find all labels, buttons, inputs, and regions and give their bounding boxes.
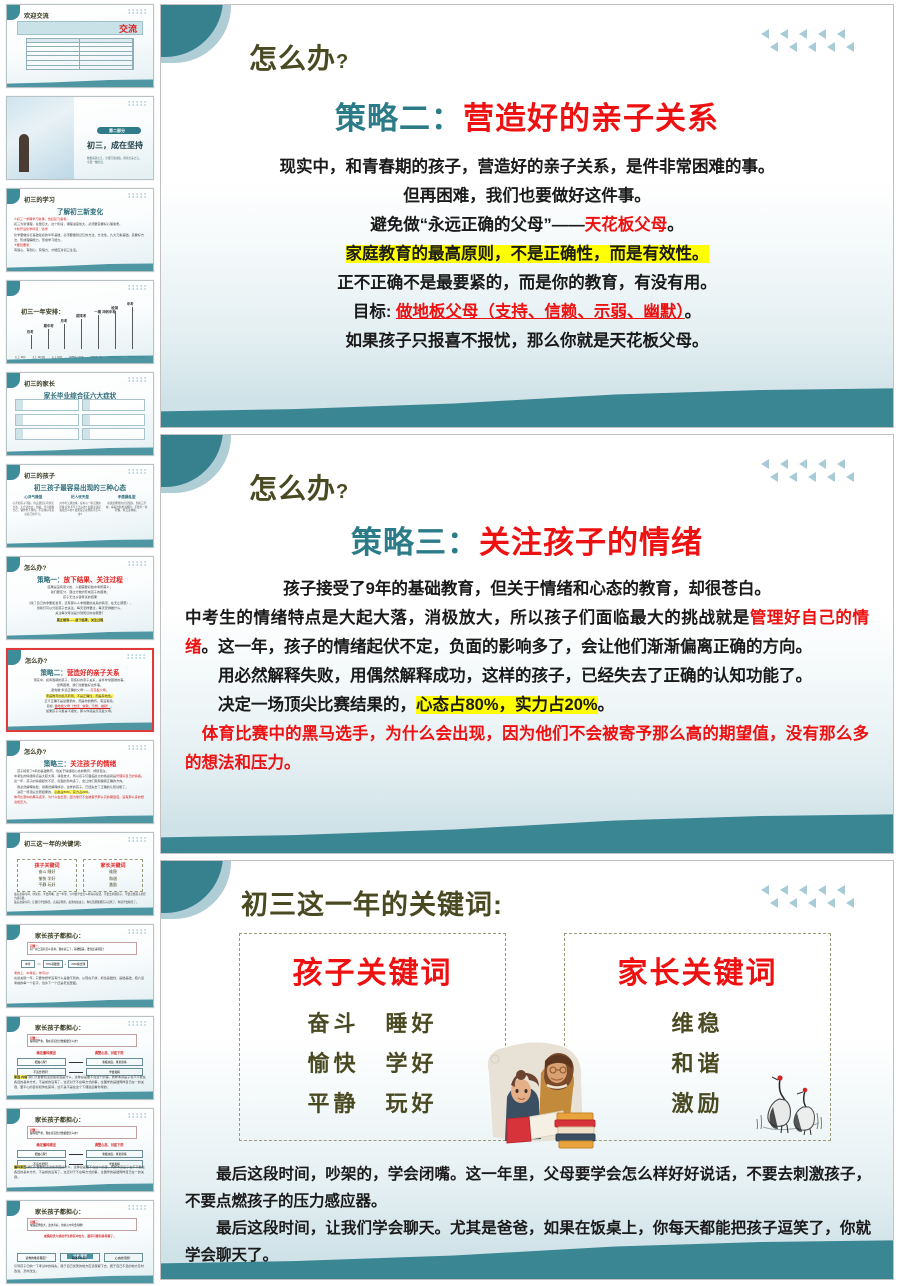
triangle-deco-icon bbox=[761, 885, 857, 919]
formula-row: 中考 ⟹ 70%基础题 + 20%综合题 bbox=[21, 960, 143, 968]
thumbnail-slide-9[interactable]: ◄◄◄◄◄◄◄◄◄◄ 怎么办? 策略三：关注孩子的情绪 孩子接受了9年的基础教育… bbox=[6, 740, 154, 824]
highlight-note: 成绩起伏大或用学生原有冲击力，最有可能但是考砸了。 bbox=[19, 1234, 141, 1238]
thumb-body: 考的上、中考后，你可以! 在最关键一年，只要你想学没有什么是做不到的，从现在不放… bbox=[14, 971, 146, 987]
thumb-body: ①初三一学期学习新课，然后复习备考。 初三为新课程，总量巨大，这个阶段，课程进度… bbox=[14, 217, 146, 253]
wave-deco bbox=[7, 262, 153, 271]
wave-deco bbox=[8, 721, 152, 730]
corner-arc-icon bbox=[7, 188, 20, 204]
triangle-deco-icon: ◄◄◄◄◄◄◄◄◄◄ bbox=[127, 193, 147, 199]
keyword-box-child: 孩子关键词 奋斗 睡好 愉快 学好 平静 玩好 bbox=[239, 933, 506, 1141]
question-box: 问题二：偏科很严重，现在应该给分数偏要怎么办？ bbox=[27, 1126, 137, 1139]
timeline-chart: 月考 期中考 月考 期末考 一模 冲刺中考 检测 中考 bbox=[15, 309, 145, 349]
thumb-body: 孩子接受了9年的基础教育，但关于情绪和心态的教育，却很苍白。 中考生的情绪特点是… bbox=[14, 769, 146, 805]
wave-deco bbox=[7, 78, 153, 87]
thumb-body: 现实中，和青春期的孩子，营造好的亲子关系，是件非常困难的事。 但再困难，我们也要… bbox=[15, 678, 145, 714]
thumb-title: 怎么办? bbox=[25, 656, 47, 665]
cover-note: 数据来源之五，全级百佳成绩，期待出来之五，全面一致提出。 bbox=[87, 157, 143, 165]
thumb-subtitle: 策略二：营造好的亲子关系 bbox=[8, 667, 152, 677]
wave-deco bbox=[7, 538, 153, 547]
triangle-deco-icon: ◄◄◄◄◄◄◄◄◄◄ bbox=[127, 1205, 147, 1211]
slide-body: 现实中，和青春期的孩子，营造好的亲子关系，是件非常困难的事。 但再困难，我们也要… bbox=[185, 153, 869, 356]
thumbnail-slide-14[interactable]: ◄◄◄◄◄◄◄◄◄◄ 家长孩子都担心： 问题三：成绩起伏很大，这次考好，但担心中… bbox=[6, 1200, 154, 1284]
wave-deco bbox=[7, 446, 153, 455]
wave-deco bbox=[7, 906, 153, 915]
triangle-deco-icon: ◄◄◄◄◄◄◄◄◄◄ bbox=[127, 377, 147, 383]
thumbnail-slide-11[interactable]: ◄◄◄◄◄◄◄◄◄◄ 家长孩子都担心： 问题一：初一初二没有怎么读书，现在初三了… bbox=[6, 924, 154, 1008]
keyword-boxes: 孩子关键词 奋斗 睡好 愉快 学好 平静 玩好 家长关键词 维稳 和谐 激励 bbox=[17, 859, 143, 892]
thumb-table bbox=[26, 38, 134, 70]
corner-arc-icon bbox=[7, 464, 20, 480]
corner-arc-icon bbox=[7, 1108, 20, 1124]
wave-deco-bar bbox=[161, 417, 893, 427]
corner-arc-icon bbox=[7, 924, 20, 940]
crane-ink-painting-icon bbox=[753, 1073, 825, 1135]
keyword-box-parent-title: 家长关键词 bbox=[565, 948, 830, 992]
thumb-title: 家长孩子都担心： bbox=[35, 1023, 85, 1032]
triangle-deco-icon: ◄◄◄◄◄◄◄◄◄◄ bbox=[127, 469, 147, 475]
slide-body: 孩子接受了9年的基础教育，但关于情绪和心态的教育，却很苍白。 中考生的情绪特点是… bbox=[185, 575, 869, 778]
slide-thumbnail-sidebar[interactable]: ◄◄◄◄◄◄◄◄◄◄ 欢迎交流 交流 ◄◄◄◄◄◄◄◄◄◄ 第二部分 bbox=[0, 0, 160, 1286]
symptom-cards bbox=[15, 399, 145, 443]
triangle-deco-icon: ◄◄◄◄◄◄◄◄◄◄ bbox=[127, 1113, 147, 1119]
triangle-deco-icon: ◄◄◄◄◄◄◄◄◄◄ bbox=[127, 929, 147, 935]
thumb-body: 偏科原因 我们不要要知道这些原因是什么，这种总是要不在这个的事，同样本身是子在不… bbox=[14, 1165, 146, 1181]
cover-subtitle: 初三，成在坚持 bbox=[87, 140, 143, 151]
thumb-title: 家长孩子都担心： bbox=[35, 1115, 85, 1124]
triangle-deco-icon: ◄◄◄◄◄◄◄◄◄◄ bbox=[127, 837, 147, 843]
corner-arc-icon bbox=[7, 740, 20, 756]
triangle-deco-icon: ◄◄◄◄◄◄◄◄◄◄ bbox=[127, 101, 147, 107]
corner-arc-icon bbox=[8, 648, 21, 665]
keyword-word: 平静 玩好 bbox=[240, 1084, 505, 1124]
thumb-subtitle: 策略一：放下结果、关注过程 bbox=[7, 574, 153, 584]
thumb-body: 引导孩子归纳一下考试中的得失，属于自己优势的地方应该保留下去，属于自己不足的地方… bbox=[14, 1264, 146, 1274]
thumb-subtitle: 策略三：关注孩子的情绪 bbox=[7, 758, 153, 768]
slide-pane[interactable]: 怎么办? 策略二：营造好的亲子关系 现实中，和青春期的孩子，营造好的亲子关系，是… bbox=[160, 0, 900, 1286]
wave-deco bbox=[7, 1182, 153, 1191]
thumb-title: 家长孩子都担心： bbox=[35, 931, 85, 940]
page-title: 初三这一年的关键词: bbox=[241, 883, 503, 922]
thumb-title: 怎么办? bbox=[24, 747, 46, 756]
thumb-title: 初三的学习 bbox=[24, 195, 55, 204]
triangle-deco-icon: ◄◄◄◄◄◄◄◄◄◄ bbox=[127, 745, 147, 751]
thumbnail-slide-13[interactable]: ◄◄◄◄◄◄◄◄◄◄ 家长孩子都担心： 问题二：偏科很严重，现在应该给分数偏要怎… bbox=[6, 1108, 154, 1192]
corner-arc-icon bbox=[7, 832, 20, 848]
thumb-title: 初三的家长 bbox=[24, 379, 55, 388]
triangle-deco-icon: ◄◄◄◄◄◄◄◄◄◄ bbox=[127, 9, 147, 15]
keyword-word: 奋斗 睡好 bbox=[240, 1004, 505, 1044]
person-silhouette-icon bbox=[19, 134, 29, 172]
thumb-big-text: 交流 bbox=[119, 22, 137, 35]
thumbnail-slide-3[interactable]: ◄◄◄◄◄◄◄◄◄◄ 初三的学习 了解初三新变化 ①初三一学期学习新课，然后复习… bbox=[6, 188, 154, 272]
mindset-columns: 心浮气躁型心浮的孩子浮躁，但又都觉心有例无方法，无方法也太，但路，学习很难分心，… bbox=[12, 495, 148, 516]
question-box: 问题三：成绩起伏很大，这次考好，但担心中考会考糟？ bbox=[27, 1218, 137, 1231]
part-label: 第二部分 bbox=[95, 128, 139, 134]
main-slide-strategy-3[interactable]: 怎么办? 策略三：关注孩子的情绪 孩子接受了9年的基础教育，但关于情绪和心态的教… bbox=[160, 434, 894, 854]
thumbnail-slide-8[interactable]: ◄◄◄◄◄◄◄◄◄◄ 怎么办? 策略二：营造好的亲子关系 现实中，和青春期的孩子… bbox=[6, 648, 154, 732]
triangle-deco-icon bbox=[761, 29, 857, 63]
triangle-deco-icon bbox=[761, 459, 857, 493]
triangle-deco-icon: ◄◄◄◄◄◄◄◄◄◄ bbox=[127, 285, 147, 291]
thumbnail-slide-5[interactable]: ◄◄◄◄◄◄◄◄◄◄ 初三的家长 家长毕业综合征六大症状 bbox=[6, 372, 154, 456]
triangle-deco-icon: ◄◄◄◄◄◄◄◄◄◄ bbox=[127, 1021, 147, 1027]
thumbnail-slide-12[interactable]: ◄◄◄◄◄◄◄◄◄◄ 家长孩子都担心： 问题二：偏科很严重，现在应该给分数偏要怎… bbox=[6, 1016, 154, 1100]
thumb-title: 初三这一年的关键词: bbox=[24, 839, 82, 848]
main-slide-keywords[interactable]: 初三这一年的关键词: 孩子关键词 奋斗 睡好 愉快 学好 平静 玩好 家长关键词… bbox=[160, 860, 894, 1280]
wave-deco-bar bbox=[161, 843, 893, 853]
corner-arc-icon bbox=[7, 556, 20, 572]
thumb-title: 欢迎交流 bbox=[24, 11, 49, 20]
thumb-title: 家长孩子都担心： bbox=[35, 1207, 85, 1216]
corner-arc-icon bbox=[7, 372, 20, 388]
cover-photo bbox=[7, 97, 74, 179]
question-box: 问题二：偏科很严重，现在应该给分数偏要怎么办？ bbox=[27, 1034, 137, 1047]
thumb-body: 原因·内容 我们不要要知道这些原因是什么，这种总是要不在这个的事，同样本身是子在… bbox=[14, 1075, 146, 1091]
thumbnail-slide-6[interactable]: ◄◄◄◄◄◄◄◄◄◄ 初三的孩子 初三孩子最容易出现的三种心态 心浮气躁型心浮的… bbox=[6, 464, 154, 548]
corner-arc-icon bbox=[160, 4, 223, 57]
mother-daughter-reading-illustration bbox=[471, 1039, 603, 1151]
wave-deco bbox=[7, 1274, 153, 1283]
question-box: 问题一：初一初二没有怎么读书，现在初三了，基础很差，要当还来得及？ bbox=[27, 942, 137, 955]
corner-arc-icon bbox=[7, 280, 20, 296]
page-title: 怎么办? bbox=[249, 37, 349, 77]
triangle-deco-icon: ◄◄◄◄◄◄◄◄◄◄ bbox=[127, 561, 147, 567]
thumbnail-slide-4[interactable]: ◄◄◄◄◄◄◄◄◄◄ 初三一年安排： 月考 期中考 月考 期末考 一模 冲刺中考… bbox=[6, 280, 154, 364]
presentation-viewer: ◄◄◄◄◄◄◄◄◄◄ 欢迎交流 交流 ◄◄◄◄◄◄◄◄◄◄ 第二部分 bbox=[0, 0, 900, 1286]
corner-arc-icon bbox=[160, 860, 223, 913]
page-title: 怎么办? bbox=[249, 467, 349, 507]
wave-deco bbox=[7, 630, 153, 639]
thumbnail-slide-2[interactable]: ◄◄◄◄◄◄◄◄◄◄ 第二部分 初三，成在坚持 数据来源之五，全级百佳成绩，期待… bbox=[6, 96, 154, 180]
cause-boxes: 试卷的难易程度？ 基础不扎实？ 心态的问题？ bbox=[17, 1253, 143, 1262]
wave-deco bbox=[7, 998, 153, 1007]
main-slide-strategy-2[interactable]: 怎么办? 策略二：营造好的亲子关系 现实中，和青春期的孩子，营造好的亲子关系，是… bbox=[160, 4, 894, 428]
keyword-word: 维稳 bbox=[565, 1004, 830, 1044]
thumb-subtitle: 了解初三新变化 bbox=[7, 206, 153, 216]
wave-deco bbox=[7, 1090, 153, 1099]
problem-rows: 抵触心理？ 积极态度，重复训练 不适合老师？ 学会和解 bbox=[17, 1058, 143, 1076]
strategy-heading: 策略三：关注孩子的情绪 bbox=[161, 517, 893, 562]
corner-arc-icon bbox=[7, 1016, 20, 1032]
thumb-title: 怎么办? bbox=[24, 563, 46, 572]
wave-deco-bar bbox=[161, 1269, 893, 1279]
corner-arc-icon bbox=[7, 4, 20, 20]
thumb-body: 结果是没有意义的，人都需要初始中考所需义； 我们要区分，通过分数的形成孩子的困难… bbox=[14, 585, 146, 623]
strategy-heading: 策略二：营造好的亲子关系 bbox=[161, 93, 893, 138]
thumb-subtitle: 初三孩子最容易出现的三种心态 bbox=[7, 482, 153, 492]
thumb-footer: 最后这段时间，吵架的，学会闭嘴。这一年里，父母要学会怎么样好好说话，不要去刺激孩… bbox=[14, 893, 146, 905]
triangle-deco-icon: ◄◄◄◄◄◄◄◄◄◄ bbox=[126, 654, 146, 660]
thumbnail-slide-7[interactable]: ◄◄◄◄◄◄◄◄◄◄ 怎么办? 策略一：放下结果、关注过程 结果是没有意义的，人… bbox=[6, 556, 154, 640]
corner-arc-icon bbox=[160, 434, 223, 487]
thumb-title: 初三的孩子 bbox=[24, 471, 55, 480]
corner-arc-icon bbox=[7, 1200, 20, 1216]
wave-deco bbox=[7, 814, 153, 823]
problem-col-heads: 确定偏科原因调整心态、对症下药 bbox=[17, 1050, 143, 1055]
thumbnail-slide-10[interactable]: ◄◄◄◄◄◄◄◄◄◄ 初三这一年的关键词: 孩子关键词 奋斗 睡好 愉快 学好 … bbox=[6, 832, 154, 916]
problem-col-heads: 确定偏科原因调整心态、对症下药 bbox=[17, 1142, 143, 1147]
thumbnail-slide-1[interactable]: ◄◄◄◄◄◄◄◄◄◄ 欢迎交流 交流 bbox=[6, 4, 154, 88]
keyword-box-child-title: 孩子关键词 bbox=[240, 948, 505, 992]
keyword-word: 愉快 学好 bbox=[240, 1044, 505, 1084]
